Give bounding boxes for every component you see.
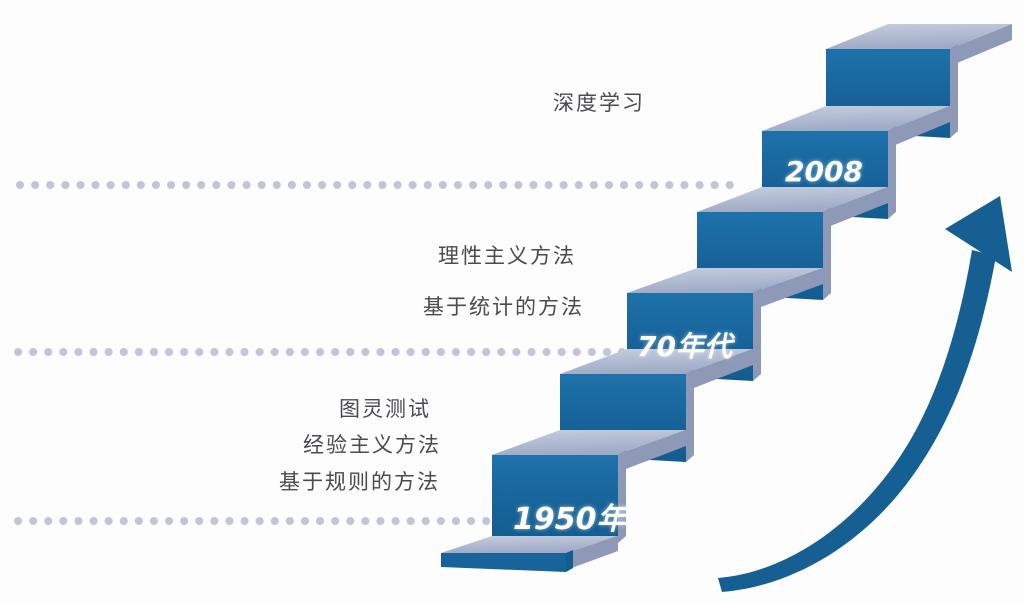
era-label-statistical: 基于统计的方法 <box>423 296 584 319</box>
step-label-1950: 1950年 <box>513 494 627 538</box>
era-label-empiricist: 经验主义方法 <box>303 434 441 457</box>
era-label-rationalist: 理性主义方法 <box>438 245 576 268</box>
era-label-turing-test: 图灵测试 <box>339 398 431 421</box>
step-label-2008: 2008 <box>785 155 863 188</box>
era-label-rule-based: 基于规则的方法 <box>279 471 440 494</box>
step-label-70s: 70年代 <box>637 325 732 365</box>
stair-base-platform <box>441 536 618 572</box>
diagram-canvas: 深度学习 理性主义方法 基于统计的方法 图灵测试 经验主义方法 基于规则的方法 … <box>0 0 1024 605</box>
era-label-deep-learning: 深度学习 <box>553 92 645 115</box>
